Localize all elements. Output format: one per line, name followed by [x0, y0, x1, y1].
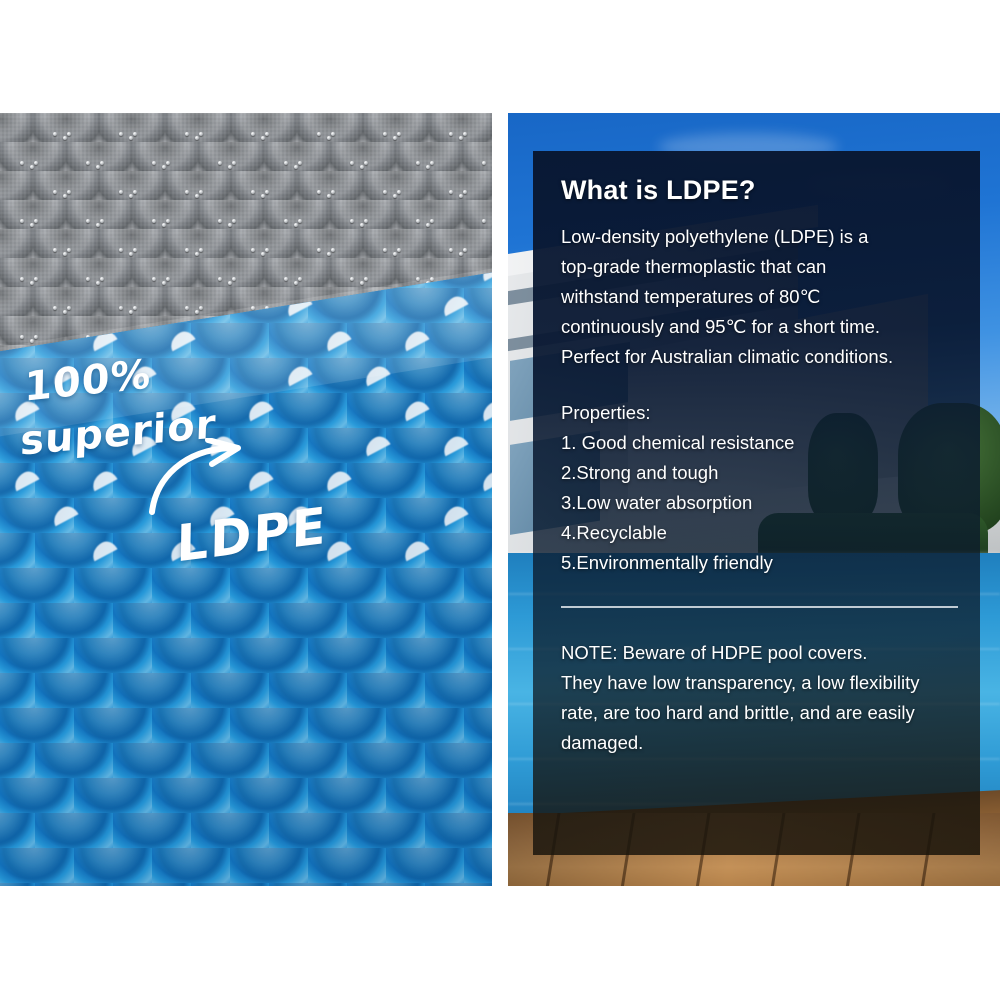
note-block: NOTE: Beware of HDPE pool covers. They h…	[561, 638, 954, 758]
list-item: 2.Strong and tough	[561, 458, 954, 488]
properties-heading: Properties:	[561, 398, 954, 428]
section-divider	[561, 606, 958, 608]
ldpe-info-card: What is LDPE? Low-density polyethylene (…	[533, 151, 980, 855]
paragraph-line: top-grade thermoplastic that can	[561, 252, 954, 282]
note-line: NOTE: Beware of HDPE pool covers.	[561, 638, 954, 668]
list-item: 4.Recyclable	[561, 518, 954, 548]
properties-list: 1. Good chemical resistance 2.Strong and…	[561, 428, 954, 578]
list-item: 5.Environmentally friendly	[561, 548, 954, 578]
card-paragraph: Low-density polyethylene (LDPE) is a top…	[561, 222, 954, 372]
ldpe-info-panel: What is LDPE? Low-density polyethylene (…	[508, 113, 1000, 886]
list-item: 1. Good chemical resistance	[561, 428, 954, 458]
product-infographic: 100% superior LDPE	[0, 0, 1000, 1000]
card-title: What is LDPE?	[561, 175, 954, 206]
paragraph-line: withstand temperatures of 80℃	[561, 282, 954, 312]
paragraph-line: Perfect for Australian climatic conditio…	[561, 342, 954, 372]
note-line: rate, are too hard and brittle, and are …	[561, 698, 954, 728]
paragraph-line: continuously and 95℃ for a short time.	[561, 312, 954, 342]
list-item: 3.Low water absorption	[561, 488, 954, 518]
paragraph-line: Low-density polyethylene (LDPE) is a	[561, 222, 954, 252]
note-line: damaged.	[561, 728, 954, 758]
note-line: They have low transparency, a low flexib…	[561, 668, 954, 698]
pool-cover-photo-panel: 100% superior LDPE	[0, 113, 492, 886]
